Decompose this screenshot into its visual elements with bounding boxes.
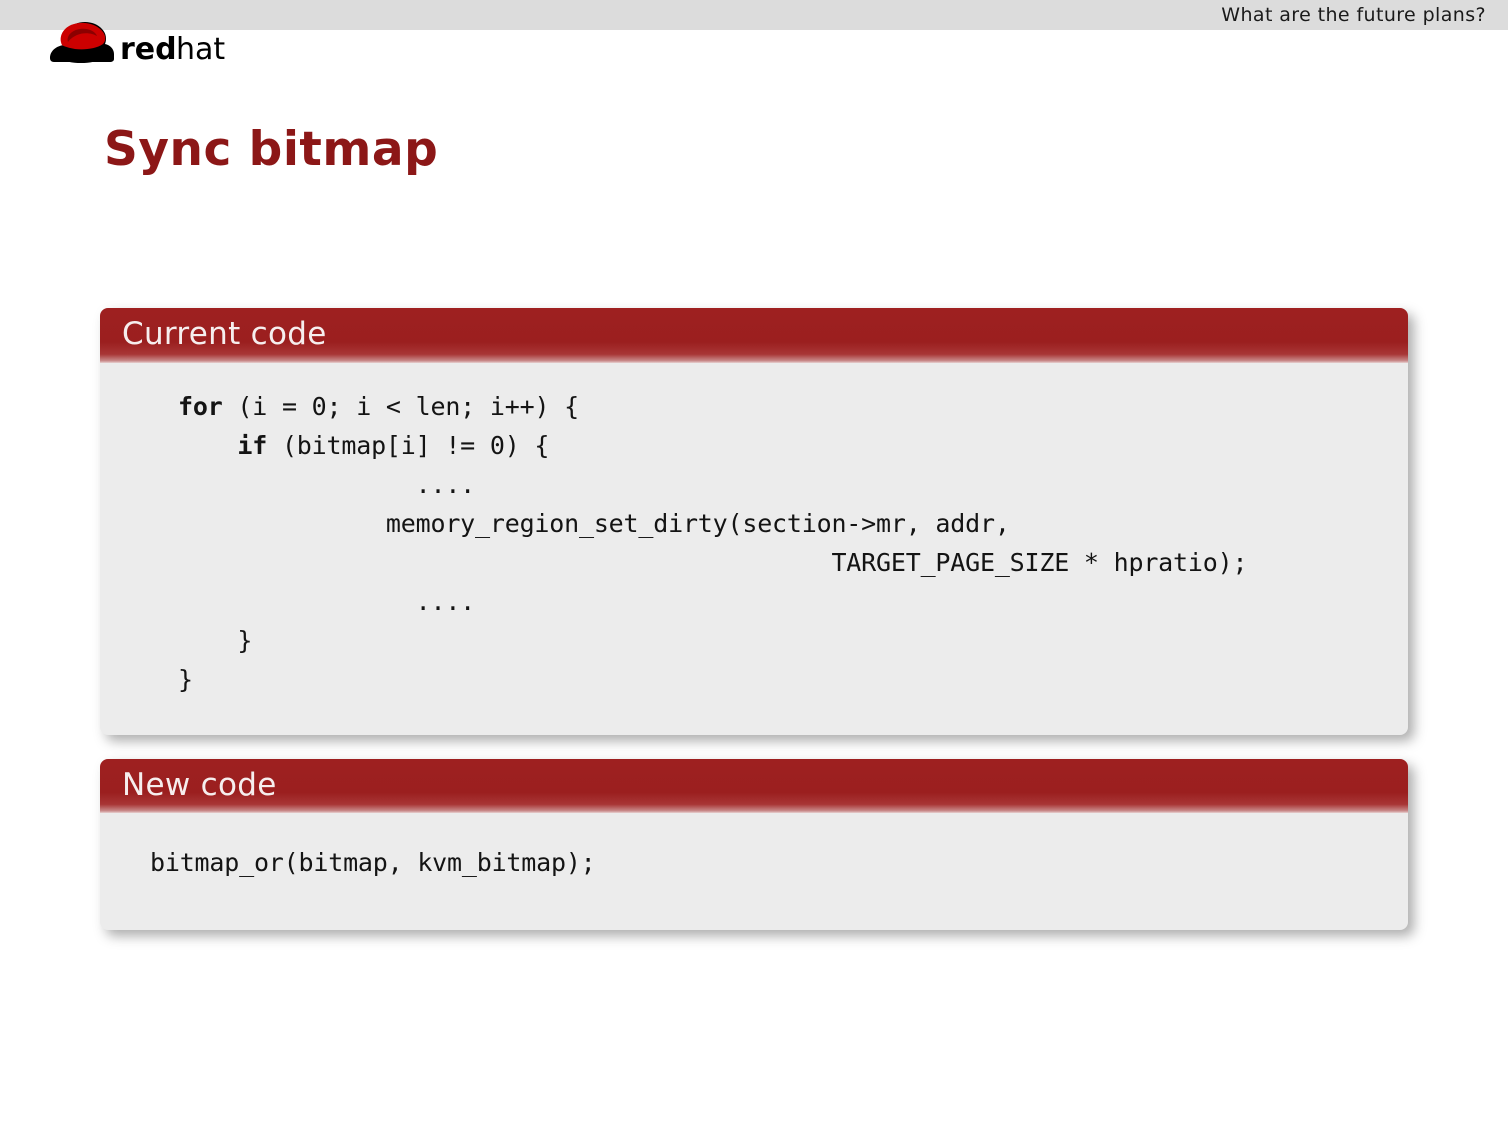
shadowman-icon: [50, 22, 114, 63]
block-title-new-code: New code: [100, 759, 1408, 814]
code-line: }: [178, 660, 1408, 699]
block-current-code: Current code for (i = 0; i < len; i++) {…: [100, 308, 1408, 735]
code-line: memory_region_set_dirty(section->mr, add…: [178, 504, 1408, 543]
code-line: bitmap_or(bitmap, kvm_bitmap);: [150, 843, 1408, 882]
code-keyword: for: [178, 392, 223, 421]
block-title-current-code: Current code: [100, 308, 1408, 363]
logo-word-red: red: [120, 32, 177, 67]
logo-word-hat: hat: [176, 32, 225, 67]
code-line: ....: [178, 465, 1408, 504]
section-header-title: What are the future plans?: [1221, 4, 1486, 26]
code-line: ....: [178, 582, 1408, 621]
redhat-logo: red hat: [48, 18, 238, 68]
code-line: for (i = 0; i < len; i++) {: [178, 387, 1408, 426]
block-new-code: New code bitmap_or(bitmap, kvm_bitmap);: [100, 759, 1408, 931]
page-title: Sync bitmap: [104, 122, 438, 177]
code-line: }: [178, 621, 1408, 660]
code-listing-current: for (i = 0; i < len; i++) { if (bitmap[i…: [100, 363, 1408, 735]
block-body-current-code: for (i = 0; i < len; i++) { if (bitmap[i…: [100, 363, 1408, 735]
block-body-new-code: bitmap_or(bitmap, kvm_bitmap);: [100, 813, 1408, 930]
code-keyword: if: [237, 431, 267, 460]
code-line: if (bitmap[i] != 0) {: [178, 426, 1408, 465]
content-blocks: Current code for (i = 0; i < len; i++) {…: [100, 308, 1408, 954]
code-line: TARGET_PAGE_SIZE * hpratio);: [178, 543, 1408, 582]
code-listing-new: bitmap_or(bitmap, kvm_bitmap);: [100, 813, 1408, 930]
